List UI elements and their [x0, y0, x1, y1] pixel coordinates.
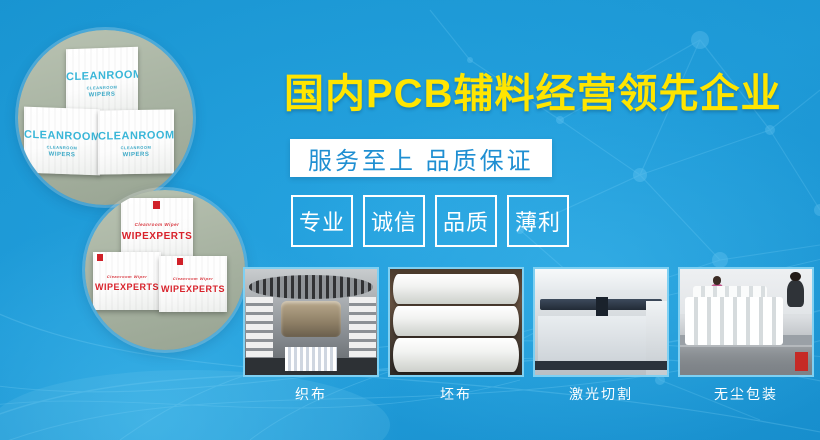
keyword-badge-pinzhi: 品质 [435, 195, 497, 247]
yarn-spools-left [246, 297, 272, 367]
laser-head [596, 297, 608, 316]
fabric-roll [393, 306, 520, 336]
process-thumbnail-packaging [678, 267, 814, 377]
machine-drum [281, 301, 342, 337]
red-stamp-icon [177, 258, 183, 265]
process-photo-item: 激光切割 [533, 267, 669, 404]
keyword-badge-group: 专业 诚信 品质 薄利 [291, 195, 569, 247]
wipes-package: CLEANROOM CLEANROOM WIPERS [98, 109, 174, 174]
packed-bags-front [685, 297, 783, 346]
package-texture [93, 252, 161, 310]
fabric-roll [393, 338, 520, 372]
room-wall [535, 269, 667, 290]
wipes-package: Cleanroom Wiper WIPEXPERTS [93, 252, 161, 310]
package-topline-text: Cleanroom Wiper [121, 222, 193, 227]
wipes-package: Cleanroom Wiper WIPEXPERTS [121, 198, 193, 260]
product-circle-cleanroom: CLEANROOM CLEANROOM WIPERS CLEANROOM CLE… [18, 30, 193, 205]
process-caption-packaging: 无尘包装 [678, 384, 814, 404]
package-topline-text: Cleanroom Wiper [159, 276, 227, 281]
process-photo-item: 坯布 [388, 267, 524, 404]
process-thumbnail-weaving [243, 267, 379, 377]
wipes-package: CLEANROOM CLEANROOM WIPERS [24, 107, 100, 176]
package-brand-text: CLEANROOM [98, 129, 174, 142]
process-caption-weaving: 织布 [243, 384, 379, 404]
laser-cutter-scene [535, 269, 667, 375]
process-photo-item: 织布 [243, 267, 379, 404]
keyword-badge-chengxin: 诚信 [363, 195, 425, 247]
knitted-fabric [285, 347, 338, 370]
keyword-badge-zhuanye: 专业 [291, 195, 353, 247]
table-legs [680, 347, 812, 375]
package-brand-text: CLEANROOM [66, 69, 138, 84]
process-photo-strip: 织布 坯布 [243, 267, 814, 404]
banner-subtitle-bar: 服务至上 品质保证 [290, 139, 552, 177]
banner-headline: 国内PCB辅料经营领先企业 [284, 74, 781, 114]
promo-banner: CLEANROOM CLEANROOM WIPERS CLEANROOM CLE… [0, 0, 820, 440]
process-photo-item: 无尘包装 [678, 267, 814, 404]
process-caption-laser: 激光切割 [533, 384, 669, 404]
banner-subtitle-text: 服务至上 品质保证 [308, 141, 534, 176]
red-bin [795, 352, 808, 371]
needle-ring [249, 275, 373, 298]
process-thumbnail-greige [388, 267, 524, 377]
red-stamp-icon [153, 201, 160, 209]
process-caption-greige: 坯布 [388, 384, 524, 404]
fabric-rolls-scene [390, 269, 522, 375]
keyword-badge-baoli: 薄利 [507, 195, 569, 247]
worker-figure [787, 280, 804, 308]
cleanroom-packaging-scene [680, 269, 812, 375]
package-topline-text: Cleanroom Wiper [93, 274, 161, 279]
machine-rail [535, 361, 667, 369]
product-circle-wipexperts: Cleanroom Wiper WIPEXPERTS Cleanroom Wip… [85, 190, 245, 350]
package-brand-text: WIPEXPERTS [121, 231, 193, 242]
wipes-package: CLEANROOM CLEANROOM WIPERS [66, 47, 138, 116]
package-brand-text: WIPEXPERTS [159, 284, 227, 294]
yarn-spools-right [349, 297, 375, 367]
fabric-roll [393, 274, 520, 304]
package-brand-text: WIPEXPERTS [93, 282, 161, 292]
wipes-package: Cleanroom Wiper WIPEXPERTS [159, 256, 227, 312]
red-stamp-icon [97, 254, 103, 261]
knitting-machine-scene [245, 269, 377, 375]
process-thumbnail-laser [533, 267, 669, 377]
